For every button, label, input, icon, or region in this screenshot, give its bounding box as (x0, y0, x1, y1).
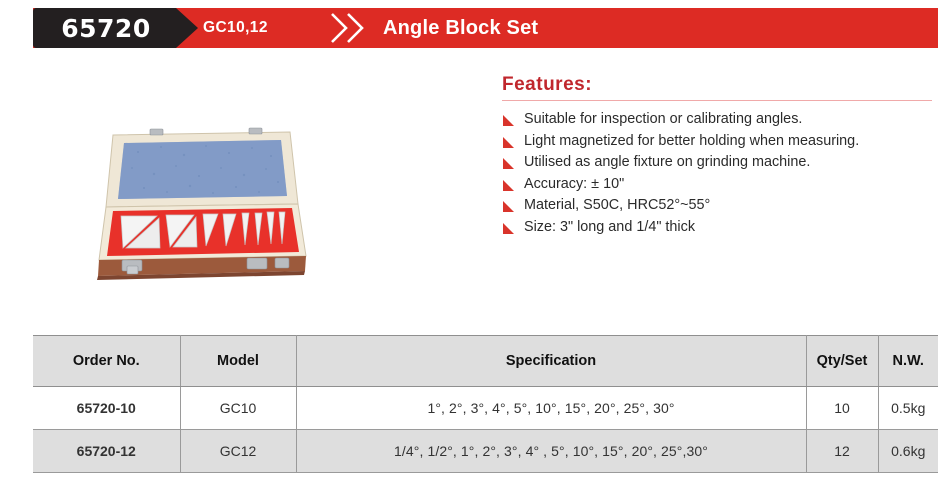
cell-specification: 1/4°, 1/2°, 1°, 2°, 3°, 4° , 5°, 10°, 15… (296, 430, 806, 473)
product-title: Angle Block Set (383, 8, 538, 48)
red-triangle-bullet-icon (502, 179, 515, 192)
cell-order-no: 65720-10 (33, 387, 180, 430)
column-header-qty-set: Qty/Set (806, 336, 878, 387)
feature-item: Light magnetized for better holding when… (502, 132, 938, 152)
product-header-banner: 65720 GC10,12 Angle Block Set (33, 8, 938, 48)
cell-nw: 0.5kg (878, 387, 938, 430)
hinge-icon (150, 129, 163, 135)
table-row: 65720-10 GC10 1°, 2°, 3°, 4°, 5°, 10°, 1… (33, 387, 938, 430)
latch-icon (127, 266, 138, 274)
feature-text: Light magnetized for better holding when… (524, 133, 859, 149)
product-code: 65720 (33, 8, 179, 48)
feature-text: Suitable for inspection or calibrating a… (524, 111, 802, 127)
features-divider (502, 100, 932, 101)
feature-text: Size: 3" long and 1/4" thick (524, 219, 695, 235)
feature-item: Suitable for inspection or calibrating a… (502, 110, 938, 130)
latch-icon (275, 258, 289, 268)
table-header-row: Order No. Model Specification Qty/Set N.… (33, 336, 938, 387)
cell-nw: 0.6kg (878, 430, 938, 473)
feature-item: Accuracy: ± 10" (502, 175, 938, 195)
latch-icon (247, 258, 267, 269)
cell-order-no: 65720-12 (33, 430, 180, 473)
red-triangle-bullet-icon (502, 157, 515, 170)
features-section: Features: Suitable for inspection or cal… (502, 74, 938, 239)
case-lid (106, 128, 298, 207)
product-image (66, 108, 366, 298)
red-triangle-bullet-icon (502, 114, 515, 127)
cell-specification: 1°, 2°, 3°, 4°, 5°, 10°, 15°, 20°, 25°, … (296, 387, 806, 430)
red-triangle-bullet-icon (502, 136, 515, 149)
feature-text: Utilised as angle fixture on grinding ma… (524, 154, 810, 170)
feature-text: Material, S50C, HRC52°~55° (524, 197, 710, 213)
double-chevron-right-icon (328, 12, 374, 44)
column-header-model: Model (180, 336, 296, 387)
red-triangle-bullet-icon (502, 200, 515, 213)
cell-qty-set: 12 (806, 430, 878, 473)
cell-model: GC10 (180, 387, 296, 430)
feature-item: Material, S50C, HRC52°~55° (502, 196, 938, 216)
hinge-icon (249, 128, 262, 134)
features-heading: Features: (502, 74, 938, 96)
specification-table: Order No. Model Specification Qty/Set N.… (33, 335, 938, 473)
product-model-range: GC10,12 (203, 8, 268, 48)
column-header-nw: N.W. (878, 336, 938, 387)
feature-item: Utilised as angle fixture on grinding ma… (502, 153, 938, 173)
cell-model: GC12 (180, 430, 296, 473)
features-list: Suitable for inspection or calibrating a… (502, 110, 938, 237)
cell-qty-set: 10 (806, 387, 878, 430)
column-header-order-no: Order No. (33, 336, 180, 387)
feature-text: Accuracy: ± 10" (524, 176, 624, 192)
feature-item: Size: 3" long and 1/4" thick (502, 218, 938, 238)
column-header-specification: Specification (296, 336, 806, 387)
table-row: 65720-12 GC12 1/4°, 1/2°, 1°, 2°, 3°, 4°… (33, 430, 938, 473)
red-triangle-bullet-icon (502, 222, 515, 235)
case-base (97, 204, 306, 280)
